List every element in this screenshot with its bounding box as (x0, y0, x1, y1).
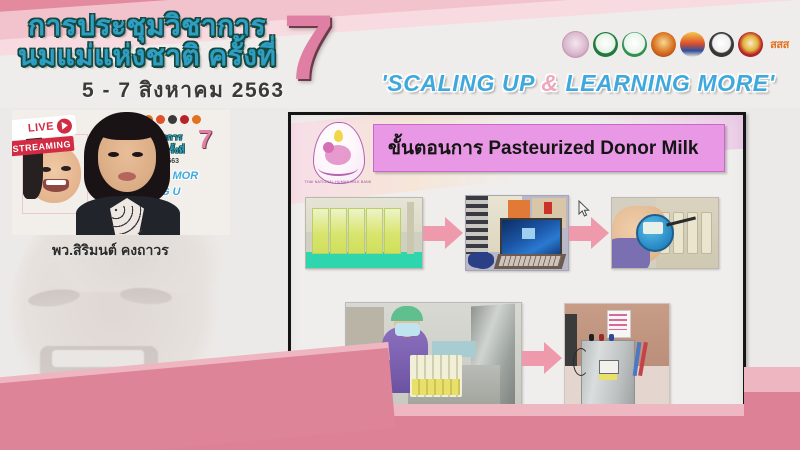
arrow-3-shaft (522, 351, 546, 366)
arrow-2-head (591, 217, 609, 249)
photo-laptop-record (465, 195, 569, 271)
speaker-name-label: พว.สิริมนต์ คงถาวร (52, 240, 169, 262)
ph3-bottle-1 (701, 212, 712, 254)
live-streaming-badge: LIVE STREAMING (12, 118, 76, 158)
conference-date: 5 - 7 สิงหาคม 2563 (82, 74, 285, 107)
arrow-3-head (544, 342, 562, 374)
speaker-video-feed[interactable]: การประชุมวิชาการ นมแม่แห่งชาติ ครั้งที่ … (12, 110, 230, 235)
ph4-nurse-mask (395, 323, 420, 336)
arrow-right-2 (569, 217, 611, 249)
ph5-yellow-label (599, 374, 617, 380)
ph5-power-cable (573, 348, 589, 376)
ph1-rack-4 (366, 208, 383, 254)
ph3-bottle-3 (673, 212, 684, 254)
speaker-bangs (96, 118, 158, 140)
arrow-right-3 (522, 342, 564, 374)
nursing-council-logo (738, 32, 763, 57)
ph1-rack-5 (384, 208, 401, 254)
arrow-right-1 (423, 217, 465, 249)
ph2-screen-icon (522, 228, 535, 239)
ph1-rack-2 (330, 208, 347, 254)
arrow-1-shaft (423, 226, 447, 241)
ph2-mouse-cord (474, 258, 492, 269)
ph4-bottle-milk (412, 379, 460, 395)
speaker-mouth (118, 172, 136, 181)
child-eye-right (61, 166, 71, 171)
speaker-shirt-pattern (112, 206, 142, 234)
slide-title-text: ขั้นตอนการ Pasteurized Donor Milk (388, 133, 698, 163)
milk-drop-logo-caption: THAI NATIONAL HUMAN MILK BANK (303, 180, 373, 184)
ph2-shelf (466, 196, 488, 254)
backdrop-logo-8 (192, 115, 201, 124)
department-of-health-logo (622, 32, 647, 57)
slogan-prefix: 'SCALING UP (381, 70, 541, 96)
speaker-person (74, 110, 182, 235)
ministry-of-public-health-logo (593, 32, 618, 57)
milk-drop-hands (318, 160, 358, 176)
slogan-ampersand: & (541, 70, 558, 96)
ph1-floor (306, 252, 422, 268)
university-seal-logo (709, 32, 734, 57)
slide-title-banner: ขั้นตอนการ Pasteurized Donor Milk (373, 124, 725, 172)
ph2-red-marker (544, 202, 552, 214)
arrow-1-head (445, 217, 463, 249)
slogan-suffix: LEARNING MORE' (558, 70, 774, 96)
speaker-eye-left (108, 152, 119, 157)
ph1-post (407, 202, 414, 254)
conference-slogan: 'SCALING UP & LEARNING MORE' (368, 70, 788, 97)
milk-drop-baby-head (323, 142, 334, 153)
mouse-pointer (578, 200, 590, 218)
thaihealth-sss-logo: สสส (767, 32, 792, 57)
ph5-knob-1 (589, 334, 594, 341)
ph1-rack-1 (312, 208, 329, 254)
royal-college-logo (651, 32, 676, 57)
ph3-thermometer-display (643, 222, 663, 234)
thai-breastfeeding-foundation-logo (562, 31, 589, 58)
photo-milk-bottle-racks (305, 197, 423, 269)
ph2-keyboard (499, 256, 562, 266)
speaker-eye-right (132, 152, 143, 157)
sss-logo-text: สสส (770, 35, 789, 53)
process-flow-row-top (305, 193, 729, 273)
conference-edition-number: 7 (283, 2, 334, 94)
organization-logo-row: สสส (562, 26, 800, 62)
royal-emblem-logo (680, 32, 705, 57)
ph1-rack-3 (348, 208, 365, 254)
arrow-2-shaft (569, 226, 593, 241)
child-teeth (46, 180, 66, 185)
right-band-pink (744, 392, 800, 450)
photo-temperature-probe (611, 197, 719, 269)
ph5-signboard-text (609, 314, 627, 330)
process-flow-row-bottom (345, 303, 729, 413)
streaming-label: STREAMING (12, 139, 71, 154)
conference-title-line2: นมแม่แห่งชาติ ครั้งที่ (18, 34, 276, 78)
backdrop-edition-number: 7 (198, 126, 212, 152)
milk-drop-droplet (334, 130, 343, 142)
ph5-knob-2 (599, 334, 604, 341)
conference-header-banner: การประชุมวิชาการ นมแม่แห่งชาติ ครั้งที่ … (0, 0, 800, 108)
child-eye-left (41, 167, 51, 172)
screen-root: การประชุมวิชาการ นมแม่แห่งชาติ ครั้งที่ … (0, 0, 800, 450)
ph5-control-panel (599, 360, 619, 374)
ph5-knob-3 (609, 334, 614, 341)
milk-drop-baby-logo: THAI NATIONAL HUMAN MILK BANK (305, 120, 371, 190)
photo-pasteurizer-machine (564, 303, 670, 413)
play-icon (56, 117, 72, 133)
live-label: LIVE (27, 121, 54, 135)
